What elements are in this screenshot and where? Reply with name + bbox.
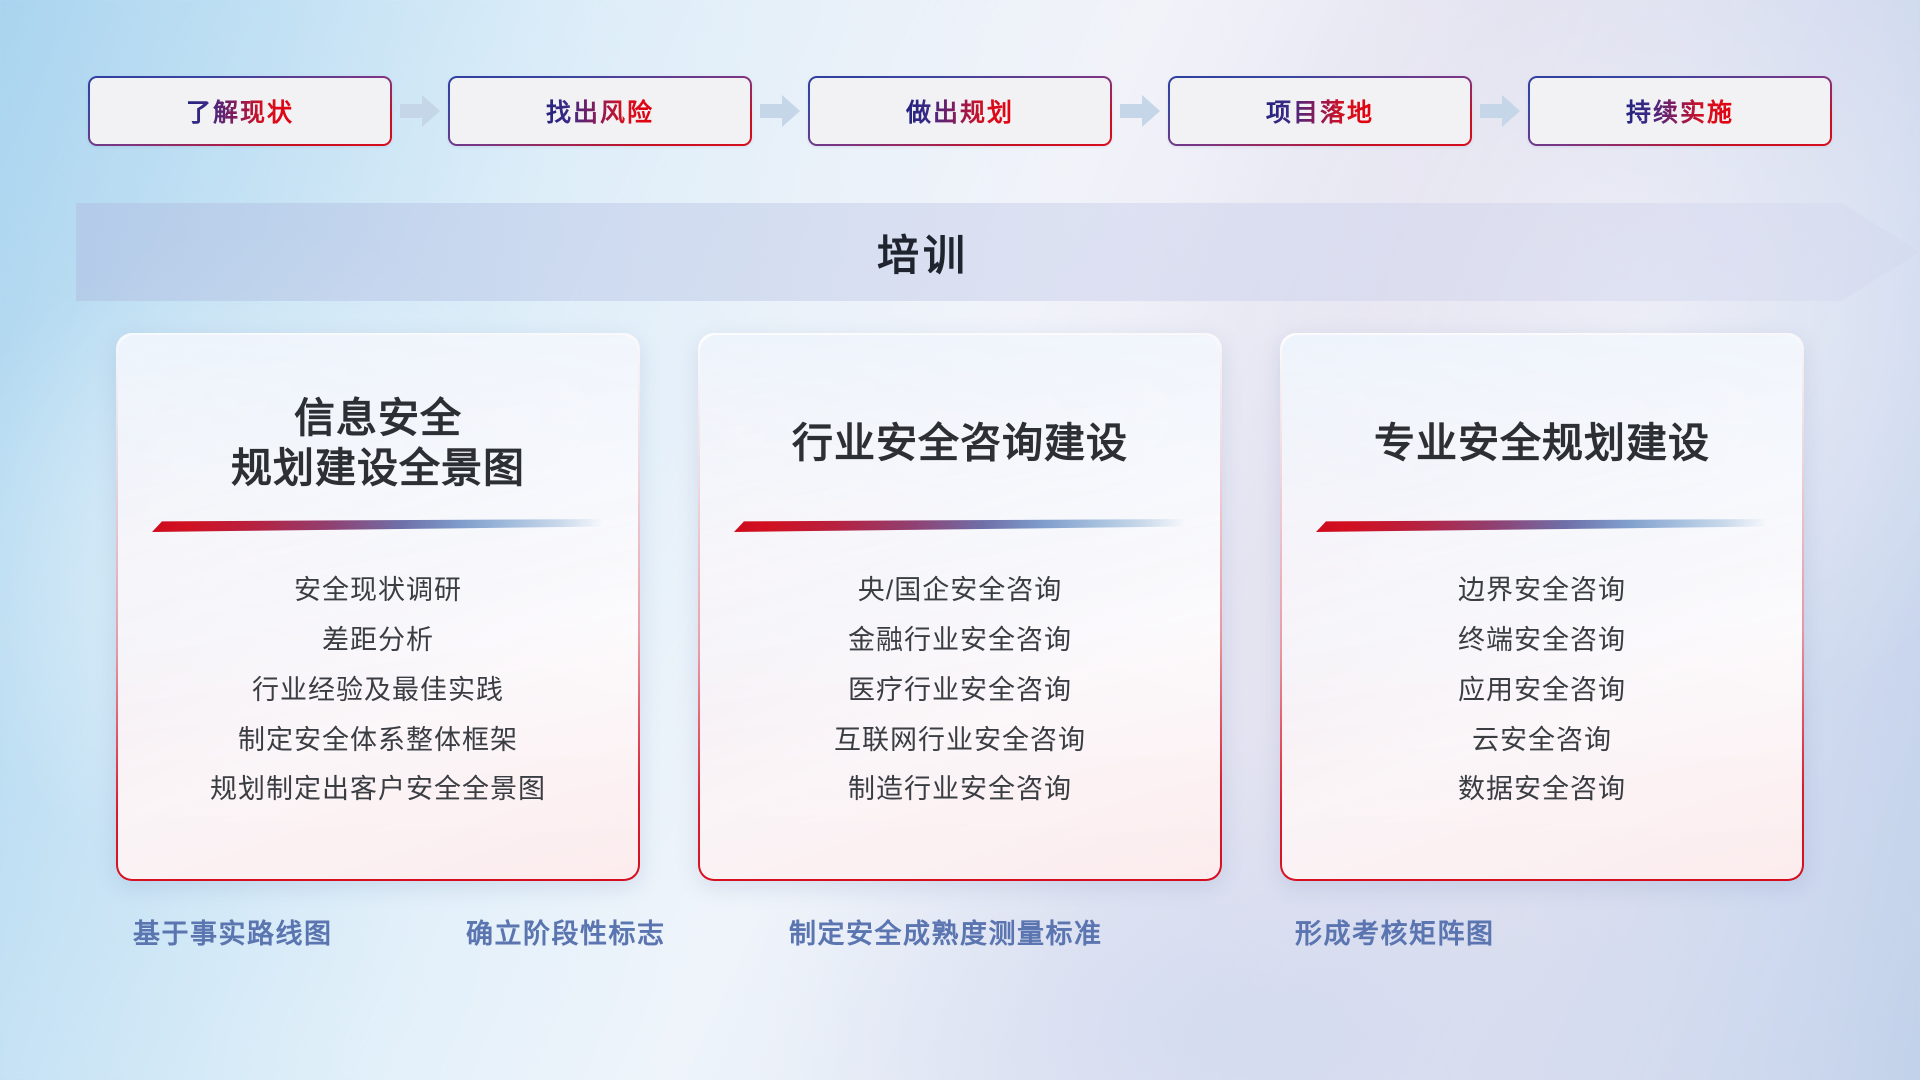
- step-label: 做出规划: [906, 93, 1014, 129]
- arrow-right-icon: [752, 76, 808, 146]
- card-title: 行业安全咨询建设: [726, 391, 1194, 495]
- list-item: 互联网行业安全咨询: [834, 720, 1086, 762]
- banner-title: 培训: [76, 203, 1920, 301]
- card-professional-security-planning[interactable]: 专业安全规划建设 边界安全咨询 终端安全咨询 应用安全咨询 云安全咨询 数据安全…: [1280, 333, 1804, 881]
- step-label: 找出风险: [546, 93, 654, 129]
- card-title-line: 行业安全咨询建设: [726, 418, 1194, 468]
- step-box-3[interactable]: 做出规划: [808, 76, 1112, 146]
- step-box-1[interactable]: 了解现状: [88, 76, 392, 146]
- step-label: 项目落地: [1266, 93, 1374, 129]
- step-box-2[interactable]: 找出风险: [448, 76, 752, 146]
- list-item: 终端安全咨询: [1458, 620, 1626, 662]
- step-box-4[interactable]: 项目落地: [1168, 76, 1472, 146]
- list-item: 医疗行业安全咨询: [848, 670, 1072, 712]
- list-item: 云安全咨询: [1472, 720, 1612, 762]
- card-title-line: 信息安全: [144, 393, 612, 443]
- list-item: 差距分析: [322, 620, 434, 662]
- list-item: 金融行业安全咨询: [848, 620, 1072, 662]
- card-group: 信息安全 规划建设全景图 安全现状调研 差距分析 行业经验及最佳实践 制定安全体…: [0, 333, 1920, 881]
- card-title: 信息安全 规划建设全景图: [144, 391, 612, 495]
- step-box-5[interactable]: 持续实施: [1528, 76, 1832, 146]
- step-flow: 了解现状 找出风险 做出规划 项目落地 持续实施: [0, 76, 1920, 146]
- card-divider: [152, 519, 604, 532]
- footer-label-maturity: 制定安全成熟度测量标准: [789, 912, 1103, 951]
- card-title-line: 专业安全规划建设: [1308, 418, 1776, 468]
- card-list: 边界安全咨询 终端安全咨询 应用安全咨询 云安全咨询 数据安全咨询: [1308, 570, 1776, 811]
- card-divider: [734, 519, 1186, 532]
- arrow-right-icon: [1112, 76, 1168, 146]
- footer-label-roadmap: 基于事实路线图: [133, 912, 333, 951]
- list-item: 制定安全体系整体框架: [238, 720, 518, 762]
- footer-label-milestone: 确立阶段性标志: [466, 912, 666, 951]
- step-label: 持续实施: [1626, 93, 1734, 129]
- list-item: 数据安全咨询: [1458, 769, 1626, 811]
- step-label: 了解现状: [186, 93, 294, 129]
- list-item: 应用安全咨询: [1458, 670, 1626, 712]
- card-title-line: 规划建设全景图: [144, 443, 612, 493]
- arrow-right-icon: [392, 76, 448, 146]
- training-banner: 培训: [76, 203, 1920, 301]
- card-list: 央/国企安全咨询 金融行业安全咨询 医疗行业安全咨询 互联网行业安全咨询 制造行…: [726, 570, 1194, 811]
- list-item: 制造行业安全咨询: [848, 769, 1072, 811]
- arrow-right-icon: [1472, 76, 1528, 146]
- card-industry-security-consulting[interactable]: 行业安全咨询建设 央/国企安全咨询 金融行业安全咨询 医疗行业安全咨询 互联网行…: [698, 333, 1222, 881]
- card-divider: [1316, 519, 1768, 532]
- card-title: 专业安全规划建设: [1308, 391, 1776, 495]
- footer-label-group: 基于事实路线图 确立阶段性标志 制定安全成熟度测量标准 形成考核矩阵图: [0, 908, 1920, 968]
- list-item: 规划制定出客户安全全景图: [210, 769, 546, 811]
- footer-label-matrix: 形成考核矩阵图: [1295, 912, 1495, 951]
- card-list: 安全现状调研 差距分析 行业经验及最佳实践 制定安全体系整体框架 规划制定出客户…: [144, 570, 612, 811]
- card-information-security-panorama[interactable]: 信息安全 规划建设全景图 安全现状调研 差距分析 行业经验及最佳实践 制定安全体…: [116, 333, 640, 881]
- list-item: 安全现状调研: [294, 570, 462, 612]
- list-item: 行业经验及最佳实践: [252, 670, 504, 712]
- list-item: 央/国企安全咨询: [858, 570, 1063, 612]
- list-item: 边界安全咨询: [1458, 570, 1626, 612]
